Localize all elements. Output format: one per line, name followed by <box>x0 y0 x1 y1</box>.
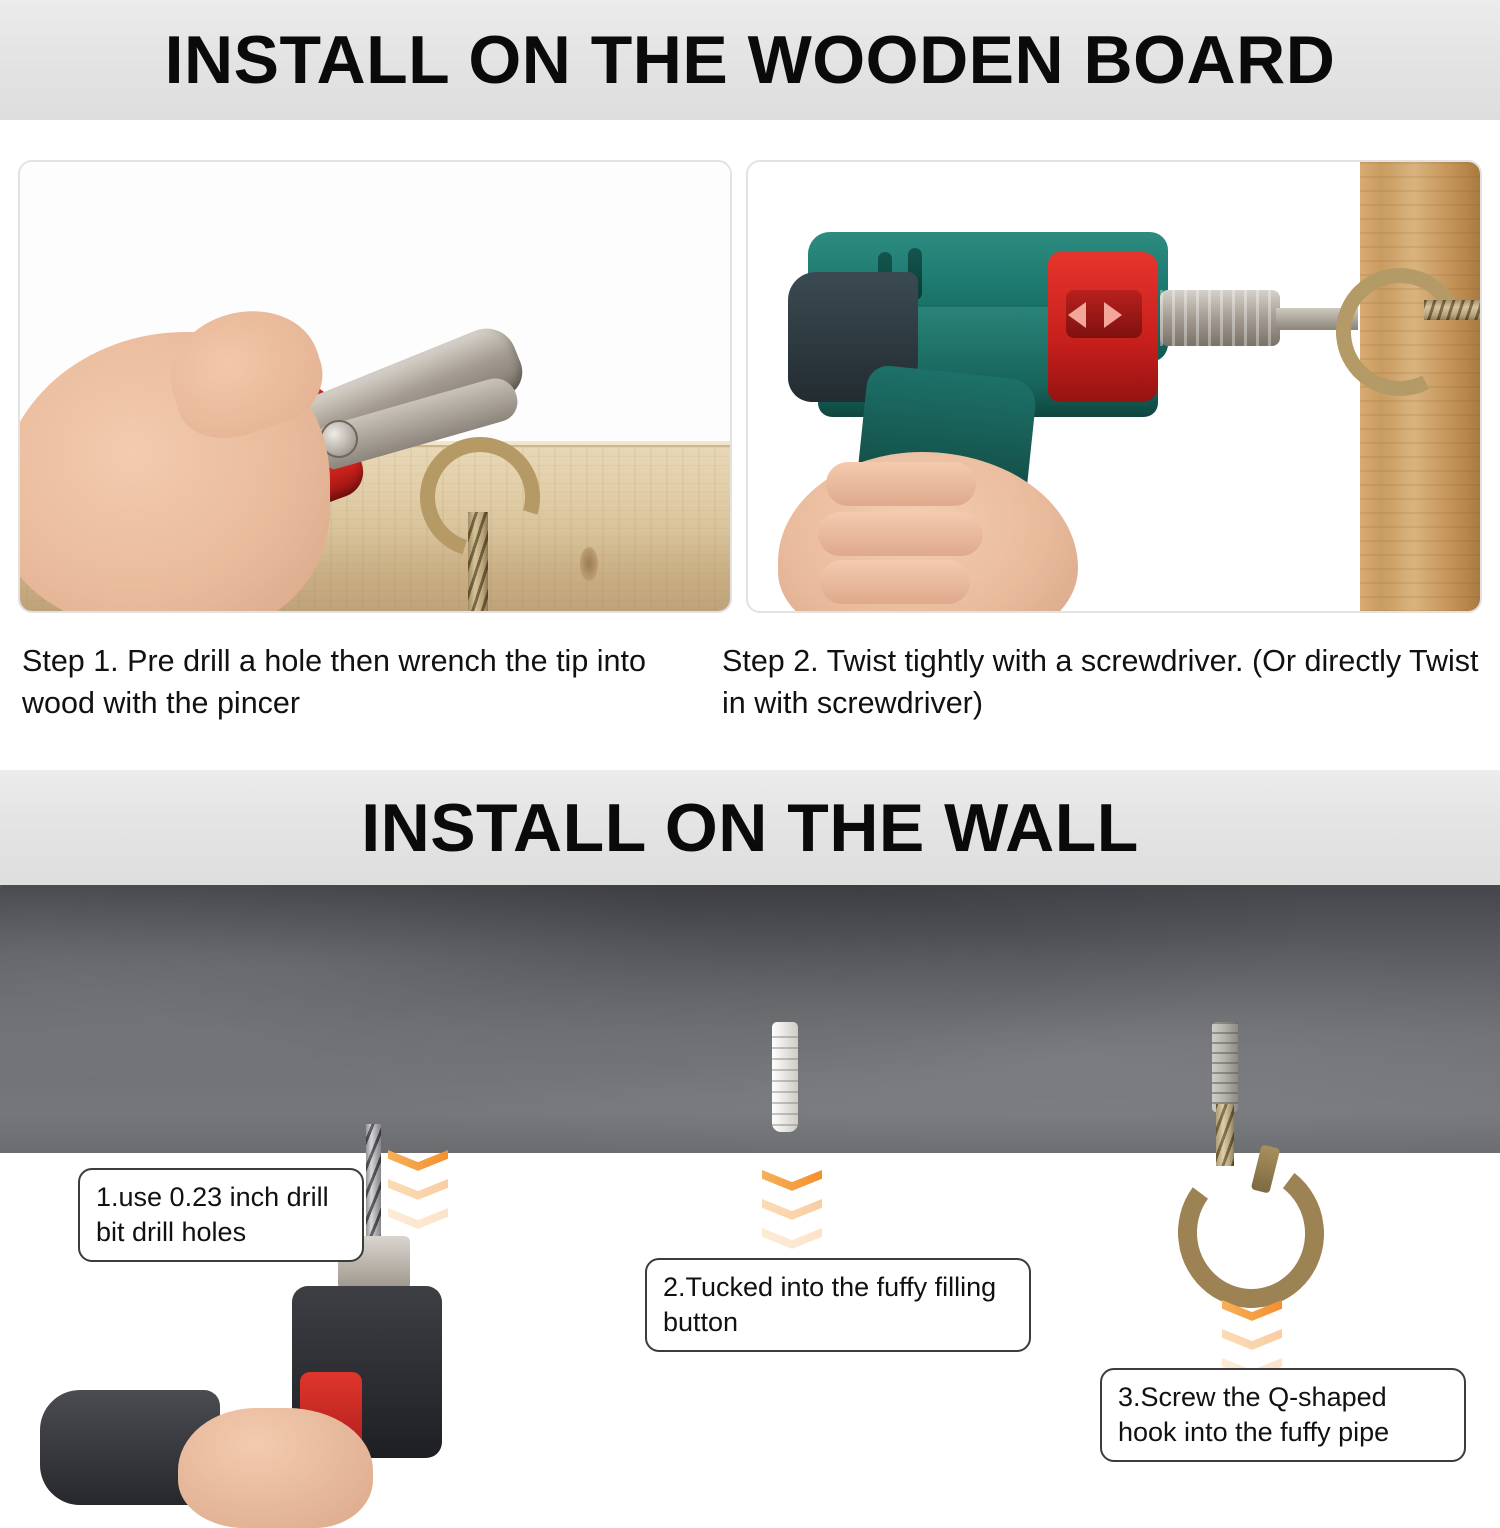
wooden-board-photo-row <box>0 160 1500 620</box>
chevron-up-icon <box>762 1170 822 1192</box>
wall-anchor-plug <box>1212 1022 1238 1112</box>
concrete-wall-surface <box>0 885 1500 1153</box>
hand-holding-drill <box>178 1408 373 1528</box>
section-header-wooden-board: INSTALL ON THE WOODEN BOARD <box>0 0 1500 120</box>
finger <box>818 512 983 556</box>
chevron-up-icon <box>1222 1300 1282 1322</box>
arrow-left-icon <box>1068 302 1086 328</box>
step-1-photo <box>18 160 732 613</box>
chevron-up-icon <box>388 1179 448 1201</box>
wall-anchor-plug <box>772 1022 798 1132</box>
screw-hook-threaded-shaft <box>1424 300 1482 320</box>
finger <box>826 462 976 506</box>
driver-chuck <box>1160 290 1280 346</box>
wall-callout-2: 2.Tucked into the fuffy filling button <box>645 1258 1031 1352</box>
chevron-up-icon <box>1222 1329 1282 1351</box>
wall-callout-3: 3.Screw the Q-shaped hook into the fuffy… <box>1100 1368 1466 1462</box>
drill-bit <box>366 1124 381 1242</box>
chevron-up-icon <box>762 1228 822 1250</box>
q-hook-threaded-shaft <box>1216 1104 1234 1166</box>
section-header-wall: INSTALL ON THE WALL <box>0 770 1500 885</box>
step-2-photo <box>746 160 1482 613</box>
chevron-up-icon <box>388 1208 448 1230</box>
wooden-board-title: INSTALL ON THE WOODEN BOARD <box>165 21 1336 99</box>
chevron-up-icon <box>388 1150 448 1172</box>
chevron-arrows-step-2 <box>762 1170 822 1257</box>
wood-knot-icon <box>580 547 598 581</box>
wall-title: INSTALL ON THE WALL <box>361 789 1139 867</box>
step-1-caption: Step 1. Pre drill a hole then wrench the… <box>22 640 722 724</box>
product-instruction-graphic: INSTALL ON THE WOODEN BOARD <box>0 0 1500 1500</box>
wall-callout-1: 1.use 0.23 inch drill bit drill holes <box>78 1168 364 1262</box>
screw-hook-threaded-shaft <box>468 512 488 613</box>
finger <box>820 560 970 604</box>
chevron-arrows-step-1 <box>388 1150 448 1237</box>
chevron-up-icon <box>762 1199 822 1221</box>
step-2-caption: Step 2. Twist tightly with a screwdriver… <box>722 640 1482 724</box>
arrow-right-icon <box>1104 302 1122 328</box>
